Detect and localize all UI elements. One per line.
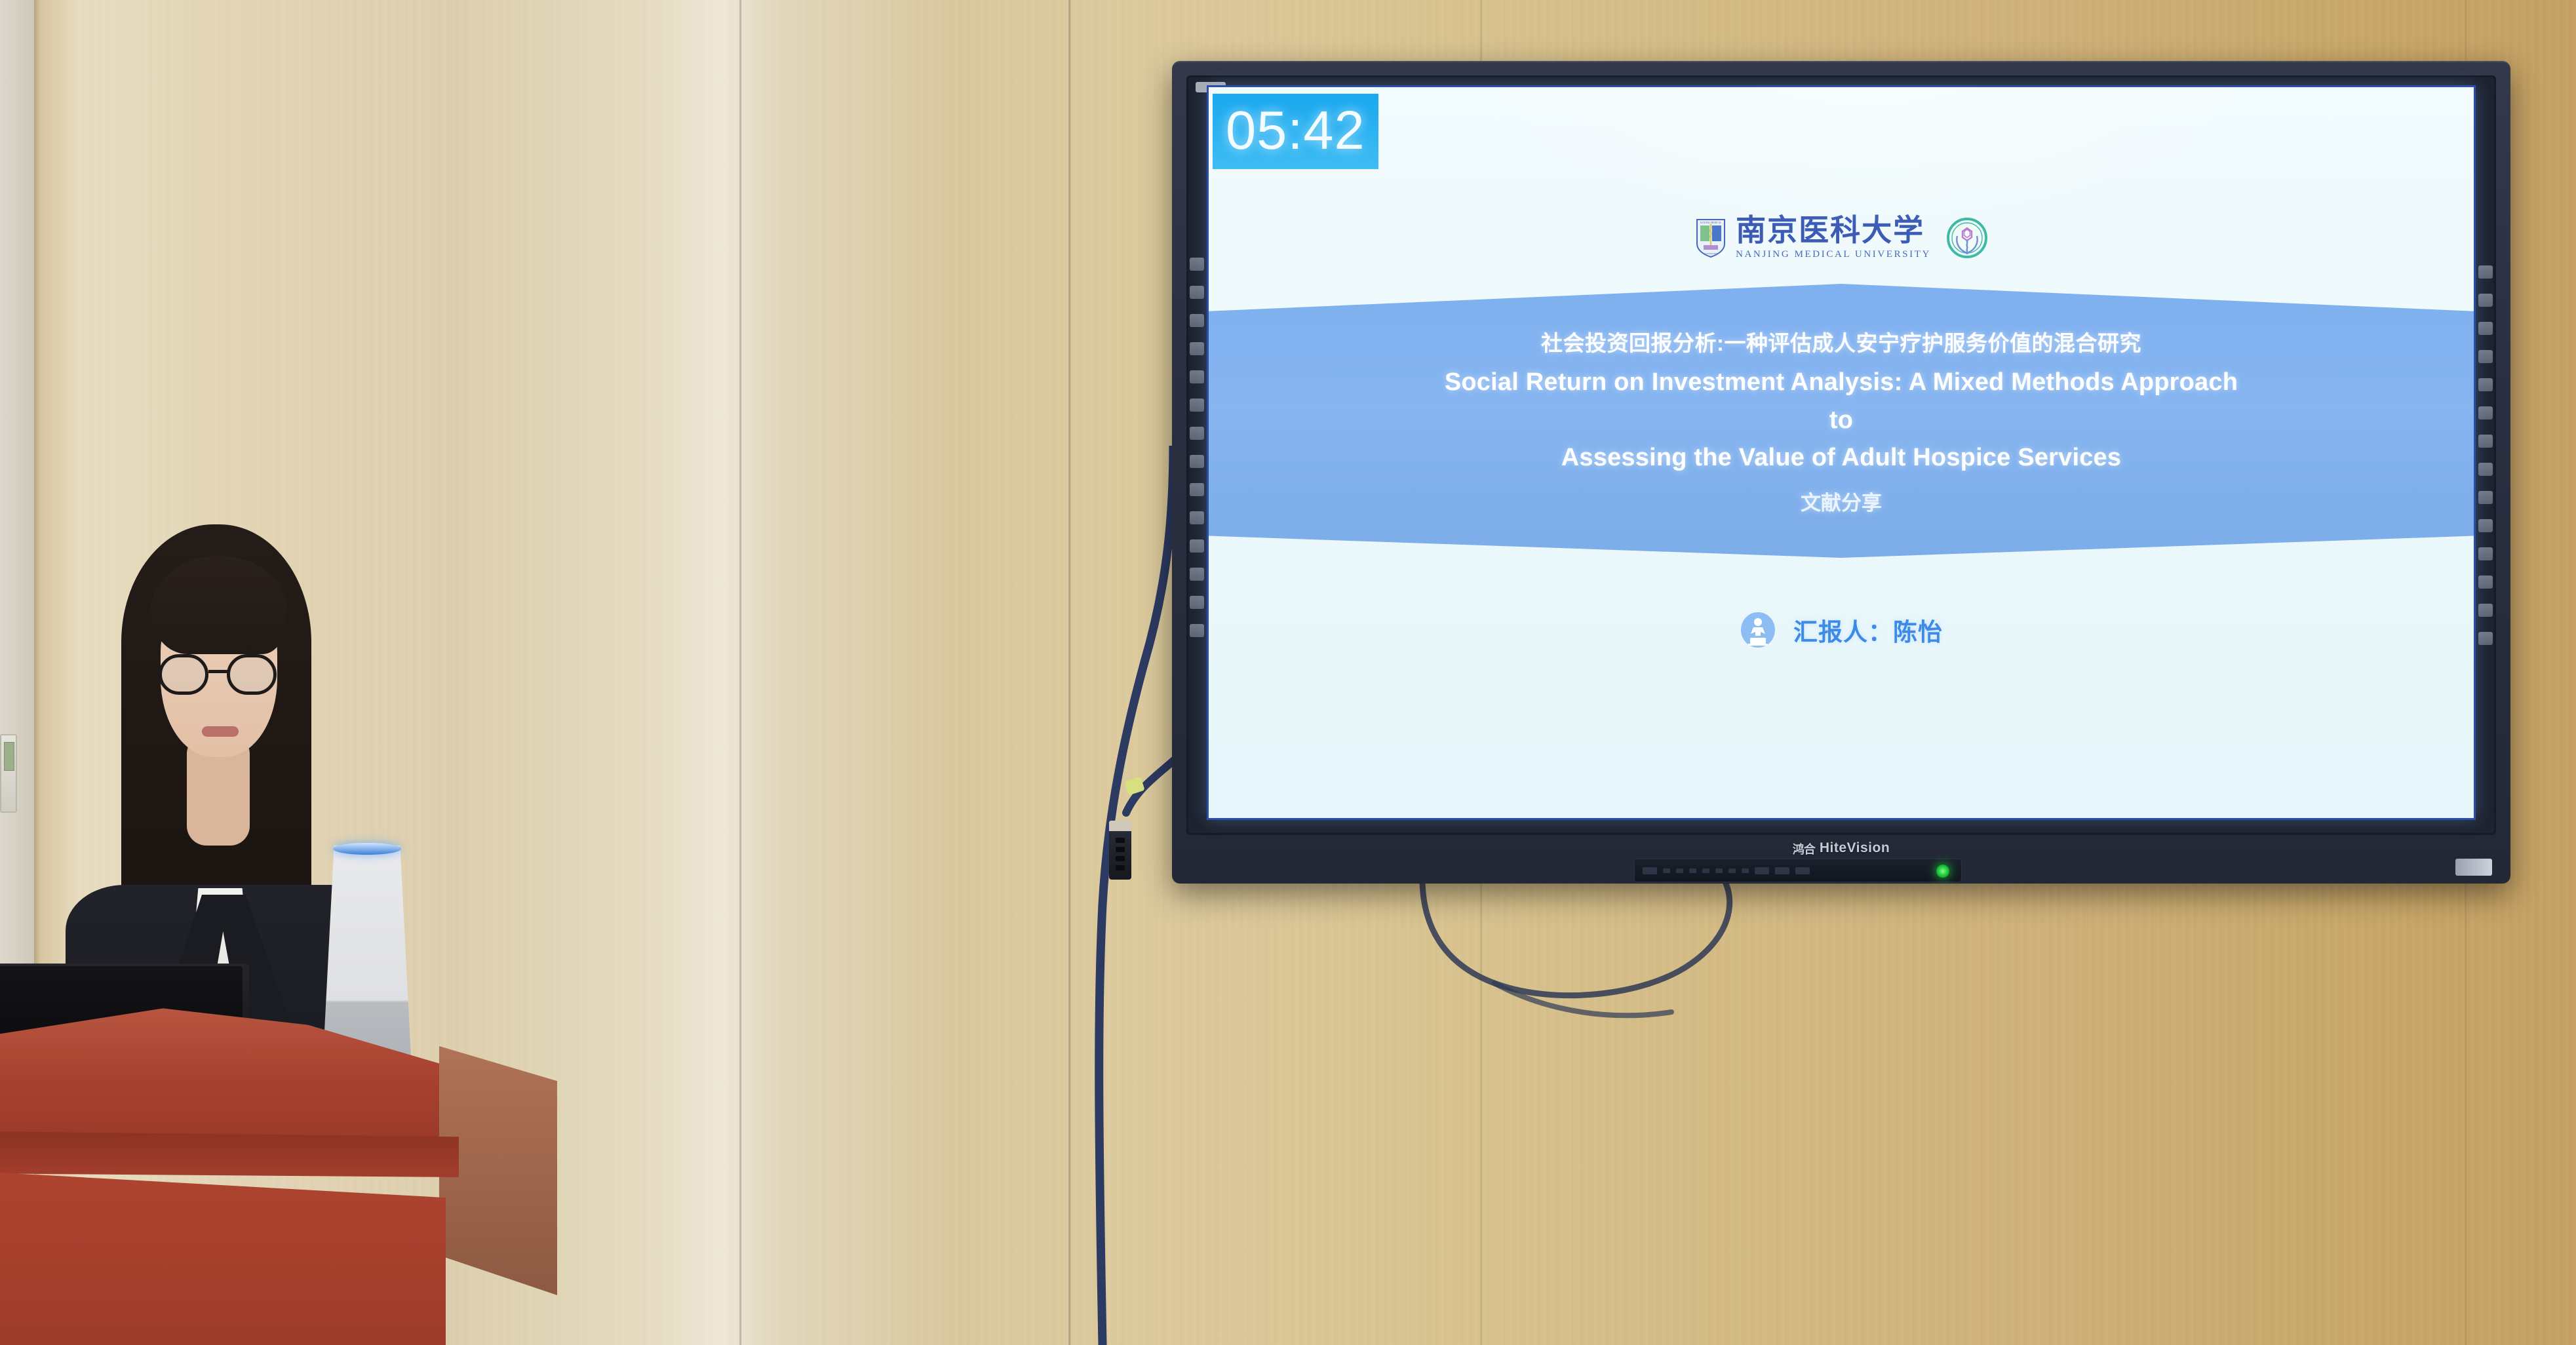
bezel-button[interactable] [1190,314,1204,327]
subtitle-chinese: 文献分享 [1801,486,1882,516]
logo-row: NANJING MEDICAL UNIVERSITY 南京医科大学 NANJIN… [1209,216,2474,260]
glasses-lens-left [159,654,208,695]
port[interactable] [1795,867,1810,874]
bezel-button[interactable] [2478,604,2493,617]
university-name-en: NANJING MEDICAL UNIVERSITY [1736,249,1931,260]
port[interactable] [1775,867,1789,874]
bezel-button[interactable] [1190,539,1204,553]
hospital-medical-emblem [1947,218,1987,258]
wall-panel-seam [739,0,742,1345]
port[interactable] [1643,867,1657,874]
university-name-cn: 南京医科大学 [1736,216,1931,246]
brand-mark: 鸿合 [1793,840,1815,857]
svg-text:UNIVERSITY: UNIVERSITY [1704,252,1718,255]
bezel-button[interactable] [2478,632,2493,645]
bezel-button[interactable] [1190,511,1204,524]
nanjing-medical-university-shield: NANJING MEDICAL UNIVERSITY [1695,218,1727,258]
connector-label [1109,821,1131,831]
mouth [202,726,239,737]
title-english-line2: to [1829,402,1853,440]
port[interactable] [1702,868,1709,873]
bezel-button[interactable] [1190,568,1204,581]
port[interactable] [1689,868,1696,873]
wall-thermostat-panel[interactable] [0,734,17,813]
display-brand-label: 鸿合HiteVision [1172,840,2510,857]
glasses [155,654,284,695]
bezel-button[interactable] [1190,399,1204,412]
port[interactable] [1663,868,1670,873]
bezel-button[interactable] [1190,286,1204,299]
podium-trim-band [0,1131,459,1177]
brand-name: HiteVision [1820,840,1890,855]
port[interactable] [1728,868,1736,873]
connector-slot [1116,847,1125,852]
podium-top-surface [0,1003,505,1140]
speaker-at-podium-icon [1740,612,1776,648]
bezel-button[interactable] [2478,378,2493,391]
port[interactable] [1715,868,1723,873]
power-indicator-led [1936,865,1949,878]
display-screen[interactable]: 05:42 NANJING MEDICAL UNIVERSITY 南京医科大学 … [1209,87,2474,818]
connector-slot [1116,838,1125,843]
bezel-button[interactable] [1190,258,1204,271]
podium [0,1003,570,1345]
connector-slot [1116,865,1125,870]
bezel-button[interactable] [2478,547,2493,560]
bezel-button[interactable] [2478,350,2493,363]
glasses-lens-right [227,654,277,695]
bezel-button[interactable] [1190,427,1204,440]
bezel-button[interactable] [2478,491,2493,504]
bezel-button[interactable] [1190,596,1204,609]
presentation-slide: 05:42 NANJING MEDICAL UNIVERSITY 南京医科大学 … [1209,87,2474,818]
bezel-button[interactable] [1190,455,1204,468]
title-english-line3: Assessing the Value of Adult Hospice Ser… [1561,439,2121,477]
display-spec-label [2455,859,2492,876]
thermostat-screen [4,742,14,771]
countdown-timer-badge: 05:42 [1213,94,1378,169]
bezel-buttons-left[interactable] [1190,258,1204,637]
glasses-bridge [208,670,229,673]
podium-base [0,1172,446,1345]
microphone-led-ring [333,843,401,855]
title-block: 社会投资回报分析:一种评估成人安宁疗护服务价值的混合研究 Social Retu… [1209,284,2474,558]
wall-panel-seam [1068,0,1071,1345]
title-chinese: 社会投资回报分析:一种评估成人安宁疗护服务价值的混合研究 [1541,326,2141,357]
bezel-button[interactable] [2478,463,2493,476]
bezel-button[interactable] [2478,406,2493,419]
bezel-button[interactable] [2478,575,2493,589]
connector-slot [1116,856,1125,861]
title-english-line1: Social Return on Investment Analysis: A … [1445,364,2238,402]
interactive-flat-panel-display[interactable]: 05:42 NANJING MEDICAL UNIVERSITY 南京医科大学 … [1172,61,2510,884]
bezel-button[interactable] [1190,624,1204,637]
bezel-button[interactable] [1190,370,1204,383]
presenter-name-label: 汇报人：陈怡 [1793,612,1943,648]
svg-text:NANJING MEDICAL: NANJING MEDICAL [1700,222,1722,224]
bezel-button[interactable] [1190,342,1204,355]
bezel-button[interactable] [2478,322,2493,335]
bezel-button[interactable] [2478,435,2493,448]
bezel-button[interactable] [2478,265,2493,279]
bezel-buttons-right[interactable] [2478,265,2493,645]
bezel-button[interactable] [2478,519,2493,532]
port[interactable] [1742,868,1749,873]
bezel-button[interactable] [2478,294,2493,307]
presenter-row: 汇报人：陈怡 [1209,612,2474,648]
display-control-strip[interactable] [1634,859,1962,882]
university-name-block: 南京医科大学 NANJING MEDICAL UNIVERSITY [1736,216,1931,260]
bezel-button[interactable] [1190,483,1204,496]
port[interactable] [1676,868,1683,873]
port[interactable] [1755,867,1769,874]
